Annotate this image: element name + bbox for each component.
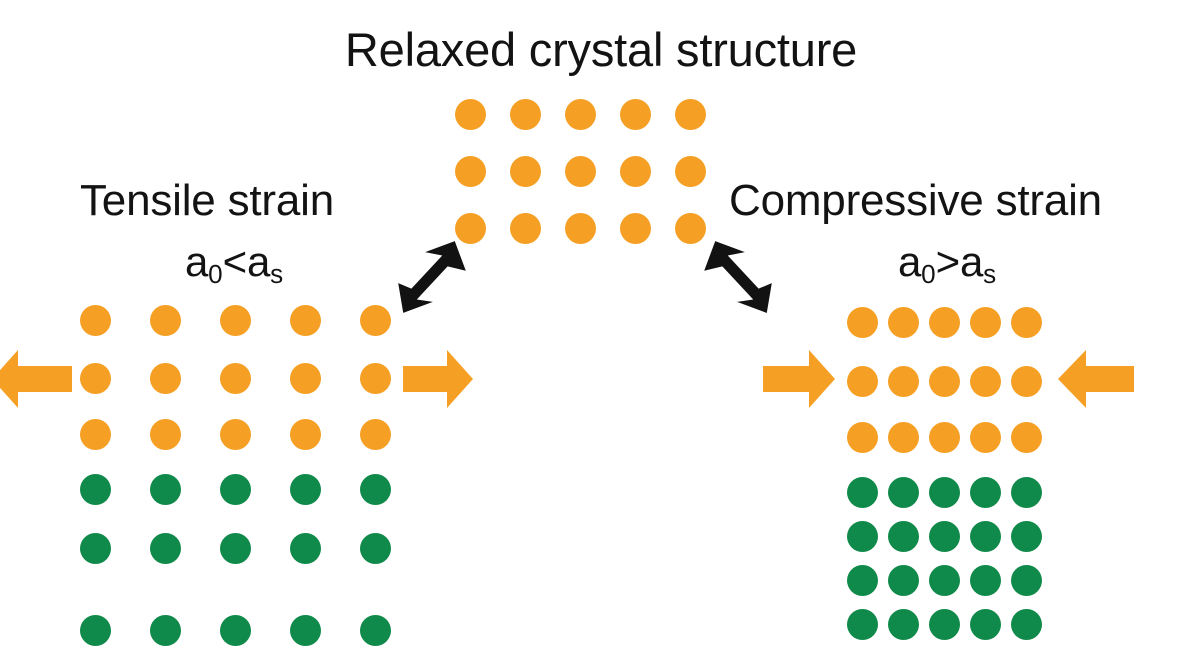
atom-dot — [510, 156, 541, 187]
atom-dot — [80, 474, 111, 505]
atom-dot — [970, 521, 1001, 552]
atom-dot — [847, 307, 878, 338]
atom-dot — [970, 609, 1001, 640]
atom-dot — [290, 419, 321, 450]
atom-dot — [1011, 422, 1042, 453]
atom-dot — [150, 615, 181, 646]
atom-dot — [847, 565, 878, 596]
tensile-arrow-right — [403, 348, 473, 410]
compressive-as-subscript: s — [983, 259, 996, 289]
compressive-a0-subscript: 0 — [921, 259, 935, 289]
atom-dot — [360, 533, 391, 564]
atom-dot — [150, 419, 181, 450]
atom-dot — [888, 565, 919, 596]
atom-dot — [888, 521, 919, 552]
atom-dot — [220, 419, 251, 450]
atom-dot — [220, 615, 251, 646]
page-title: Relaxed crystal structure — [0, 24, 1202, 76]
atom-dot — [1011, 307, 1042, 338]
tensile-as-subscript: s — [270, 259, 283, 289]
compressive-as-base: a — [960, 238, 983, 285]
atom-dot — [929, 521, 960, 552]
atom-dot — [1011, 609, 1042, 640]
atom-dot — [360, 474, 391, 505]
atom-dot — [360, 615, 391, 646]
atom-dot — [360, 363, 391, 394]
atom-dot — [565, 99, 596, 130]
atom-dot — [220, 533, 251, 564]
tensile-a0-base: a — [185, 238, 208, 285]
tensile-as-base: a — [247, 238, 270, 285]
transition-arrow-to-tensile — [390, 236, 468, 318]
atom-dot — [290, 363, 321, 394]
atom-dot — [970, 565, 1001, 596]
atom-dot — [80, 533, 111, 564]
atom-dot — [675, 156, 706, 187]
atom-dot — [620, 99, 651, 130]
atom-dot — [290, 305, 321, 336]
atom-dot — [80, 363, 111, 394]
tensile-arrow-left — [0, 348, 72, 410]
atom-dot — [290, 474, 321, 505]
atom-dot — [1011, 521, 1042, 552]
atom-dot — [290, 615, 321, 646]
atom-dot — [929, 565, 960, 596]
atom-dot — [888, 477, 919, 508]
atom-dot — [510, 213, 541, 244]
atom-dot — [455, 156, 486, 187]
transition-arrow-to-compressive — [700, 236, 780, 318]
atom-dot — [220, 363, 251, 394]
atom-dot — [847, 366, 878, 397]
atom-dot — [220, 474, 251, 505]
tensile-relation: < — [223, 238, 247, 285]
atom-dot — [675, 99, 706, 130]
strain-diagram: Relaxed crystal structure Tensile strain… — [0, 0, 1202, 660]
atom-dot — [1011, 477, 1042, 508]
compressive-a0-base: a — [898, 238, 921, 285]
atom-dot — [360, 419, 391, 450]
atom-dot — [888, 307, 919, 338]
compressive-formula: a0>as — [898, 239, 996, 290]
atom-dot — [970, 307, 1001, 338]
compressive-arrow-left — [763, 348, 835, 410]
atom-dot — [1011, 565, 1042, 596]
atom-dot — [620, 213, 651, 244]
atom-dot — [150, 533, 181, 564]
atom-dot — [150, 363, 181, 394]
atom-dot — [80, 615, 111, 646]
atom-dot — [220, 305, 251, 336]
atom-dot — [929, 366, 960, 397]
atom-dot — [847, 609, 878, 640]
atom-dot — [888, 422, 919, 453]
atom-dot — [847, 477, 878, 508]
compressive-arrow-right — [1058, 348, 1134, 410]
atom-dot — [150, 474, 181, 505]
atom-dot — [290, 533, 321, 564]
atom-dot — [888, 366, 919, 397]
atom-dot — [888, 609, 919, 640]
atom-dot — [455, 99, 486, 130]
atom-dot — [80, 305, 111, 336]
compressive-strain-label: Compressive strain — [729, 176, 1102, 226]
atom-dot — [80, 419, 111, 450]
atom-dot — [970, 422, 1001, 453]
atom-dot — [970, 366, 1001, 397]
atom-dot — [847, 521, 878, 552]
atom-dot — [360, 305, 391, 336]
atom-dot — [970, 477, 1001, 508]
atom-dot — [929, 307, 960, 338]
tensile-strain-label: Tensile strain — [80, 176, 334, 226]
atom-dot — [620, 156, 651, 187]
compressive-relation: > — [936, 238, 960, 285]
tensile-a0-subscript: 0 — [208, 259, 222, 289]
atom-dot — [847, 422, 878, 453]
atom-dot — [510, 99, 541, 130]
atom-dot — [565, 156, 596, 187]
atom-dot — [929, 477, 960, 508]
tensile-formula: a0<as — [185, 239, 283, 290]
atom-dot — [565, 213, 596, 244]
atom-dot — [1011, 366, 1042, 397]
atom-dot — [929, 422, 960, 453]
atom-dot — [150, 305, 181, 336]
atom-dot — [929, 609, 960, 640]
